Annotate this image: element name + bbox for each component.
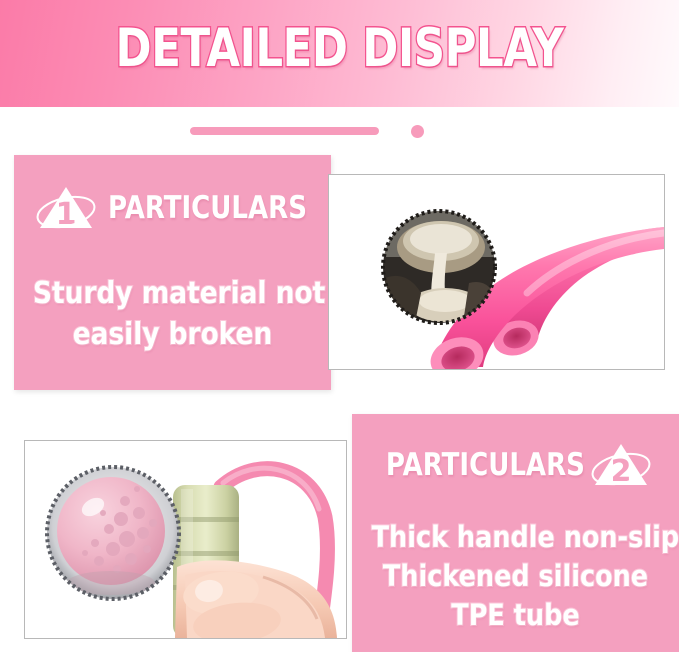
card-2-body-line-3: TPE tube xyxy=(372,596,660,635)
card-2-body: Thick handle non-slip Thickened silicone… xyxy=(372,518,660,635)
card-2-body-line-1: Thick handle non-slip xyxy=(372,518,660,557)
particulars-card-1: 1 PARTICULARS Sturdy material not easily… xyxy=(14,155,331,390)
card-1-body-line-2: easily broken xyxy=(33,314,312,355)
photo-panel-handle: Hand gripping a ribbed light green foam … xyxy=(24,440,347,639)
photo-panel-tubes: Two pink silicone TPE jump rope tubes wi… xyxy=(328,174,665,370)
card-2-heading: PARTICULARS xyxy=(386,448,585,482)
header-banner: DETAILED DISPLAY xyxy=(0,0,679,107)
divider-bar xyxy=(190,127,379,135)
card-2-header: PARTICULARS 2 xyxy=(352,414,679,496)
badge-number-2-icon: 2 xyxy=(591,439,653,491)
divider-dot xyxy=(411,125,424,138)
card-1-header: 1 PARTICULARS xyxy=(14,155,331,239)
page-title: DETAILED DISPLAY xyxy=(61,18,618,80)
card-1-body-line-1: Sturdy material not xyxy=(33,273,312,314)
card-1-body: Sturdy material not easily broken xyxy=(33,273,312,355)
card-2-body-line-2: Thickened silicone xyxy=(372,557,660,596)
particulars-card-2: PARTICULARS 2 Thick handle non-slip Thic… xyxy=(352,414,679,652)
badge-number-1-icon: 1 xyxy=(36,182,98,234)
card-1-heading: PARTICULARS xyxy=(108,191,307,225)
